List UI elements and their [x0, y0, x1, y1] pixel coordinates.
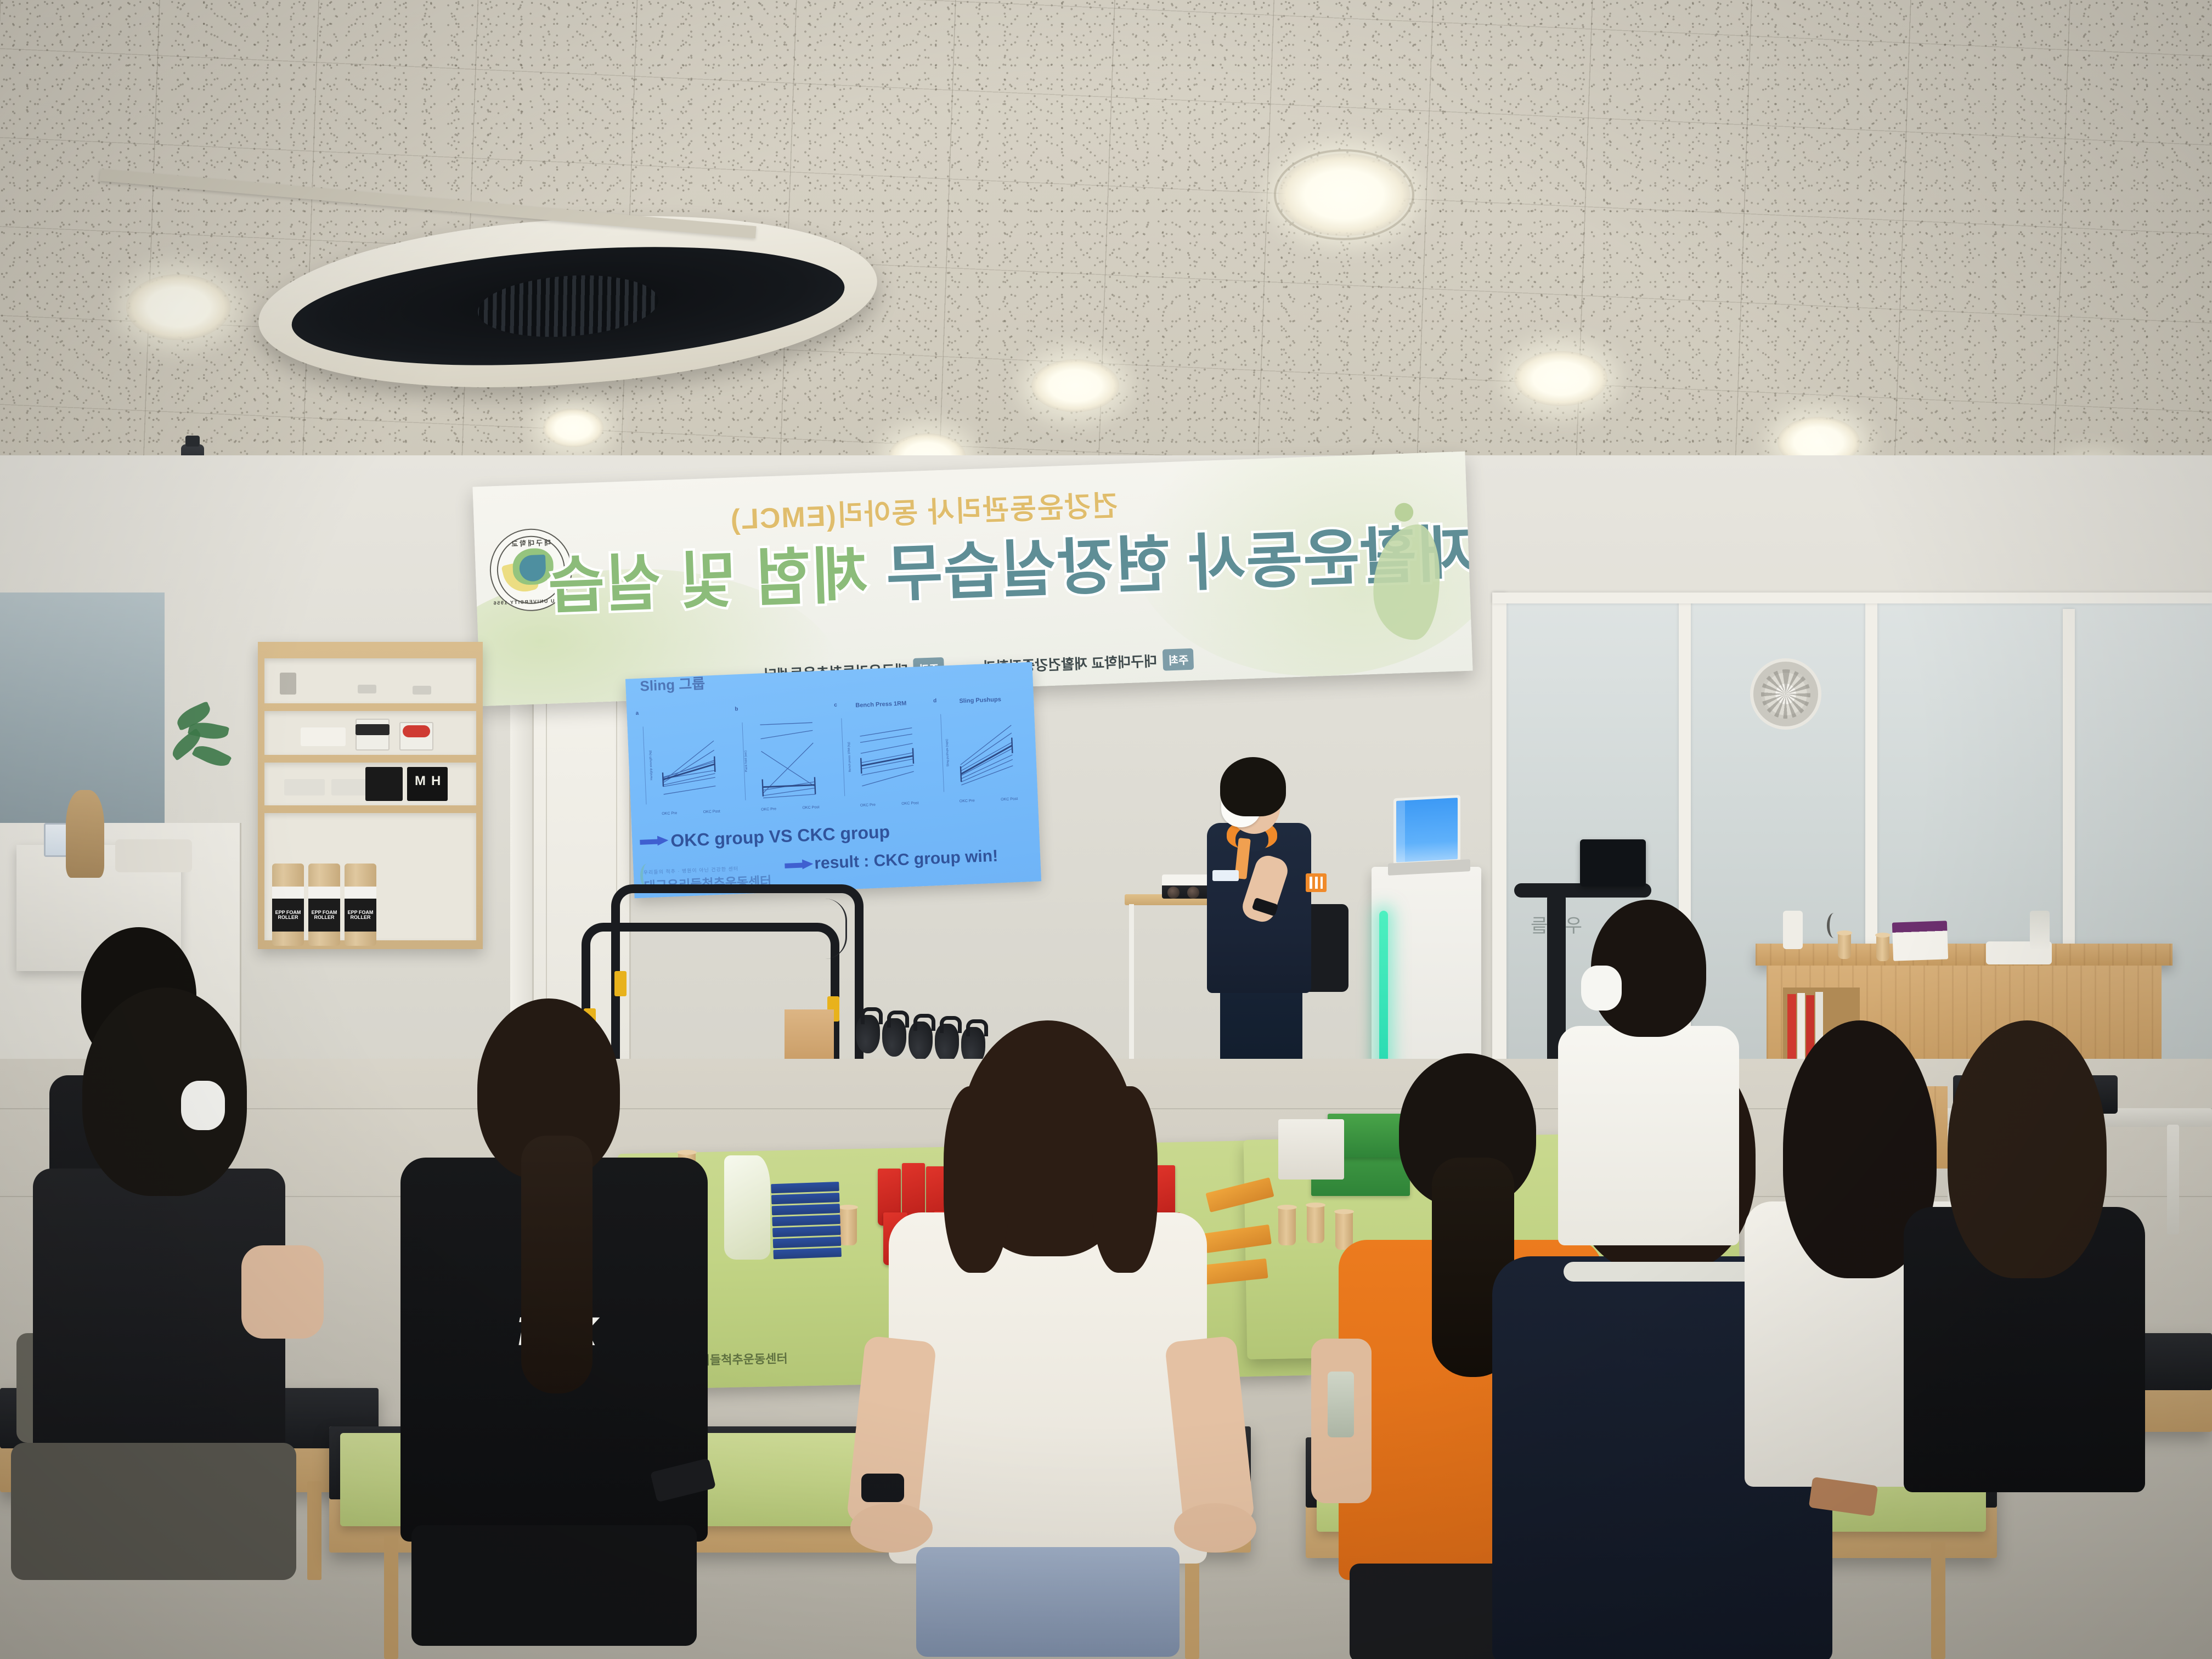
projection-screen: Sling 그룹 a Handgrip strength (kg)	[625, 662, 1041, 899]
presenter-name-badge	[1212, 870, 1239, 881]
presenter-laptop[interactable]	[1393, 797, 1465, 879]
product-box-gray	[284, 779, 325, 795]
counter-logo-icon	[1827, 913, 1841, 938]
foam-roller-label-top	[272, 887, 304, 899]
person-jeans	[916, 1547, 1180, 1657]
audience-person-7	[1547, 900, 1745, 1240]
air-conditioner-fan-icon	[476, 270, 661, 343]
chart-panel-c: c Bench Press 1RM Bench press 1RM (kg)	[833, 696, 934, 815]
chart-x-tick: OKC Pre	[960, 799, 975, 803]
ceiling-downlight	[126, 274, 230, 340]
chart-x-tick: OKC Pre	[761, 807, 776, 811]
chart-lines	[646, 723, 731, 804]
chocolate-bar	[773, 1248, 842, 1259]
monogram-m-text: M	[415, 774, 426, 789]
person-torso	[1558, 1026, 1739, 1245]
decor-statue	[66, 790, 104, 878]
chocolate-bar	[773, 1237, 842, 1248]
person-pants	[411, 1525, 697, 1646]
treadmill-display[interactable]	[1580, 839, 1646, 887]
counter-bottle	[2030, 911, 2050, 949]
foam-roller-label: EPP FOAM ROLLER	[345, 899, 376, 932]
chart-title: Sling Pushups	[959, 696, 1001, 704]
monogram-h-text: H	[431, 774, 441, 789]
chart-plot-area	[944, 710, 1029, 792]
product-box-white	[301, 727, 346, 746]
reformer-leg	[2167, 1125, 2179, 1234]
chart-panel-label: a	[635, 710, 639, 716]
laptop-screen[interactable]	[1396, 798, 1458, 862]
product-display-black	[365, 767, 403, 801]
person-pants	[11, 1443, 296, 1580]
person-hand	[1174, 1503, 1256, 1553]
chart-panel-label: b	[735, 706, 738, 712]
ceiling	[0, 0, 2212, 494]
audience-person-9	[1898, 1020, 2162, 1503]
water-bottle	[1328, 1372, 1354, 1437]
foam-roller-box: EPP FOAM ROLLER	[345, 864, 376, 946]
ceiling-downlight	[1514, 351, 1607, 406]
banner-title-green: 체험 및 실습	[546, 541, 870, 621]
decor-shoe-display	[115, 839, 192, 872]
chart-panel-label: c	[834, 702, 837, 708]
chart-plot-area	[646, 723, 731, 804]
product-red-insert	[403, 725, 430, 737]
foam-roller-box: EPP FOAM ROLLER	[272, 864, 304, 946]
plastic-snack-bag	[724, 1155, 770, 1260]
chocolate-bar	[771, 1182, 839, 1193]
person-collar-stripe	[1564, 1262, 1761, 1282]
foam-roller-box: EPP FOAM ROLLER	[308, 864, 340, 946]
chart-panel-d: d Sling Pushups Sling pushups (reps)	[932, 692, 1033, 811]
foam-roller-label-top	[345, 887, 376, 899]
chart-x-tick: OKC Pre	[662, 811, 677, 816]
audience-person-3: f/x	[384, 998, 724, 1651]
counter-card-stand	[1892, 921, 1948, 961]
person-hair-side	[944, 1086, 1009, 1273]
product-box-massage-ball	[356, 724, 390, 735]
chart-panel-a: a Handgrip strength (kg)	[634, 704, 735, 823]
arrow-right-icon	[785, 860, 814, 870]
figure-head-icon	[1395, 503, 1414, 522]
person-torso	[889, 1212, 1207, 1564]
foam-roller-label: EPP FOAM ROLLER	[272, 899, 304, 932]
person-smartwatch	[861, 1474, 904, 1502]
chart-lines	[944, 710, 1029, 792]
foam-roller-label-top	[308, 887, 340, 899]
figure-body-icon	[1371, 524, 1442, 641]
person-hair-side	[1092, 1086, 1158, 1273]
chart-x-tick: OKC Post	[1001, 797, 1018, 802]
product-display-black	[407, 767, 448, 801]
bench-leg	[1931, 1542, 1945, 1659]
chart-plot-area	[844, 715, 929, 796]
counter-diffuser	[1783, 911, 1803, 949]
chocolate-bar	[772, 1226, 841, 1237]
person-arm-skin	[241, 1245, 324, 1339]
presenter-sleeve-logo-icon	[1306, 873, 1327, 892]
photo-scene: 우리들 대구대학교 DAEGU UNIVERSITY 1956 건강운동관리사 …	[0, 0, 2212, 1659]
chocolate-bar-stack	[771, 1182, 847, 1272]
person-hand	[850, 1503, 933, 1553]
wall-fan[interactable]	[1750, 658, 1821, 730]
chocolate-bar	[772, 1204, 840, 1215]
presenter-hair	[1220, 757, 1286, 816]
ceiling-downlight	[1031, 359, 1119, 412]
chart-x-tick: OKC Pre	[860, 803, 876, 808]
audience-person-4	[856, 1020, 1240, 1659]
person-face-mask	[1581, 966, 1622, 1011]
foam-roller-label: EPP FOAM ROLLER	[308, 899, 340, 932]
slide-chart-grid: a Handgrip strength (kg)	[634, 692, 1032, 823]
chart-plot-area	[745, 719, 830, 800]
left-window	[0, 592, 165, 823]
laptop-lid	[1393, 795, 1460, 865]
glass-mullion	[1492, 592, 2212, 603]
chart-y-axis	[841, 718, 845, 796]
ceiling-downlight-ring	[1274, 149, 1414, 240]
person-ponytail	[521, 1136, 592, 1393]
chart-panel-b: b Plank hold (sec)	[733, 700, 834, 819]
chart-x-tick: OKC Post	[901, 802, 918, 806]
chocolate-bar	[772, 1215, 840, 1226]
slide-conclusion-1: OKC group VS CKC group	[670, 822, 890, 851]
chart-x-tick: OKC Post	[802, 805, 819, 810]
ceiling-tile-grid	[0, 0, 2212, 494]
slide-conclusion-2: result : CKC group win!	[814, 847, 998, 873]
chart-y-axis	[643, 726, 647, 804]
person-face-mask	[181, 1081, 225, 1130]
shelf-figurine	[358, 685, 376, 693]
chart-title: Bench Press 1RM	[855, 700, 906, 709]
product-display-shelf: M H EPP FOAM ROLLER EPP FOAM ROLLER EPP …	[258, 642, 483, 949]
parallel-bar-height-marker	[614, 971, 627, 996]
banner-host-chip: 주최	[1162, 648, 1194, 671]
plant-leaf	[191, 741, 232, 771]
ceiling-downlight	[543, 409, 603, 447]
chart-x-tick: OKC Post	[703, 810, 720, 814]
shelf-plant-pot	[280, 673, 296, 695]
shelf-figurine	[413, 686, 431, 695]
wooden-counter	[1756, 944, 2172, 966]
chart-lines	[844, 715, 929, 796]
potted-plant	[165, 708, 252, 839]
mic-knob[interactable]	[1167, 887, 1180, 899]
audience-person-2	[22, 988, 329, 1591]
person-hair	[1948, 1020, 2107, 1278]
chart-lines	[745, 719, 830, 800]
chocolate-bar	[771, 1193, 840, 1204]
paper-cup	[1278, 1207, 1296, 1245]
chart-panel-label: d	[933, 698, 937, 704]
paper-cup	[1876, 935, 1889, 961]
banner-figure-icon	[1361, 501, 1453, 647]
arrow-right-icon	[640, 837, 669, 847]
